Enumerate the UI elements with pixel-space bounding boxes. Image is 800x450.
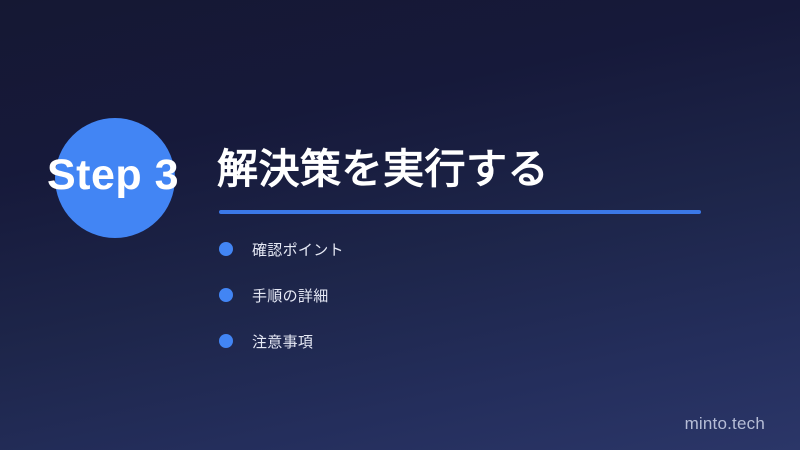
step-badge-label: Step 3 — [47, 150, 179, 200]
title-accent-rule — [219, 210, 701, 214]
bullet-item-label: 注意事項 — [252, 331, 313, 352]
bullet-dot-icon — [219, 334, 233, 348]
slide-canvas: Step 3 解決策を実行する 確認ポイント 手順の詳細 注意事項 minto.… — [0, 0, 800, 450]
bullet-item-label: 手順の詳細 — [252, 285, 329, 306]
watermark-brand: minto.tech — [685, 414, 765, 434]
list-item: 注意事項 — [219, 330, 344, 352]
list-item: 手順の詳細 — [219, 284, 344, 306]
bullet-item-label: 確認ポイント — [252, 239, 344, 260]
bullet-list: 確認ポイント 手順の詳細 注意事項 — [219, 238, 344, 376]
bullet-dot-icon — [219, 242, 233, 256]
slide-title: 解決策を実行する — [217, 143, 549, 195]
bullet-dot-icon — [219, 288, 233, 302]
list-item: 確認ポイント — [219, 238, 344, 260]
